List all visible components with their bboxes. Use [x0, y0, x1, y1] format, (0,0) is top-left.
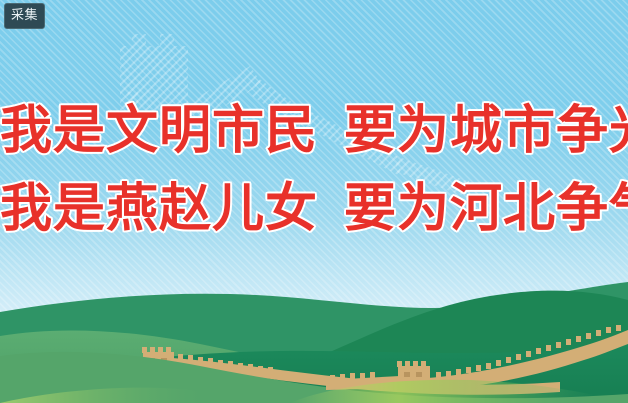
capture-button[interactable]: 采集 [4, 3, 45, 29]
landscape-illustration [0, 0, 628, 403]
banner-screenshot: 我是文明市民要为城市争光 我是燕赵儿女要为河北争气 采集 [0, 0, 628, 403]
